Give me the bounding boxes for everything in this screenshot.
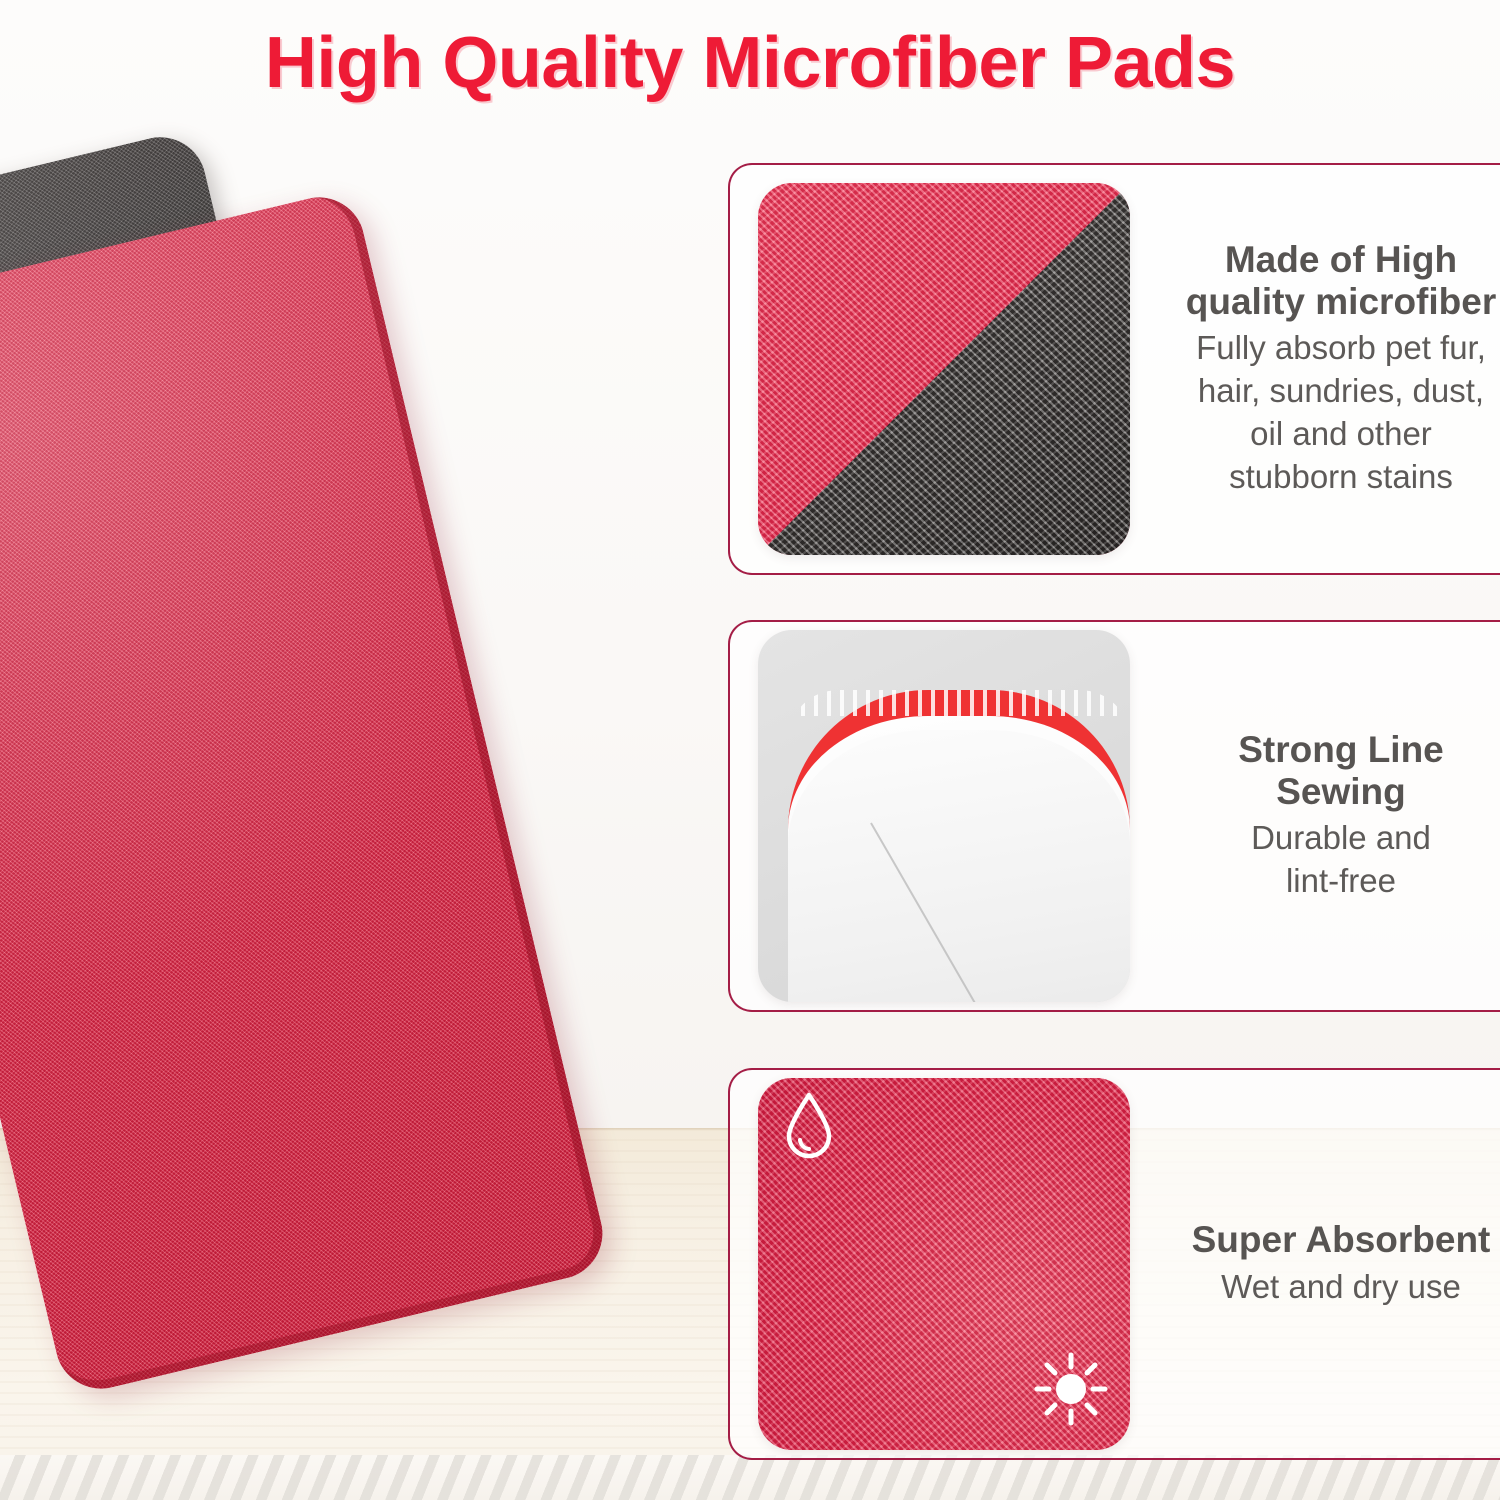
feature-text-microfiber: Made of High quality microfiber Fully ab… (1130, 239, 1500, 499)
sun-icon (1034, 1352, 1108, 1426)
feature-body: Durable and lint-free (1156, 817, 1500, 903)
floor-lattice-shadow (0, 1455, 1500, 1500)
feature-photo-microfiber-split (758, 183, 1130, 555)
feature-body: Wet and dry use (1156, 1266, 1500, 1309)
feature-heading: Strong Line Sewing (1156, 729, 1500, 813)
feature-card-absorbent: Super Absorbent Wet and dry use (728, 1068, 1500, 1460)
feature-body: Fully absorb pet fur, hair, sundries, du… (1156, 327, 1500, 499)
feature-heading: Super Absorbent (1156, 1219, 1500, 1261)
feature-text-sewing: Strong Line Sewing Durable and lint-free (1130, 729, 1500, 903)
product-infographic: High Quality Microfiber Pads Made of Hig… (0, 0, 1500, 1500)
page-title: High Quality Microfiber Pads (0, 22, 1500, 104)
feature-heading: Made of High quality microfiber (1156, 239, 1500, 323)
water-drop-icon (780, 1090, 838, 1162)
feature-photo-red-texture (758, 1078, 1130, 1450)
feature-card-sewing: Strong Line Sewing Durable and lint-free (728, 620, 1500, 1012)
feature-text-absorbent: Super Absorbent Wet and dry use (1130, 1219, 1500, 1308)
feature-card-microfiber: Made of High quality microfiber Fully ab… (728, 163, 1500, 575)
red-stitching (788, 690, 1130, 740)
feature-photo-stitched-corner (758, 630, 1130, 1002)
